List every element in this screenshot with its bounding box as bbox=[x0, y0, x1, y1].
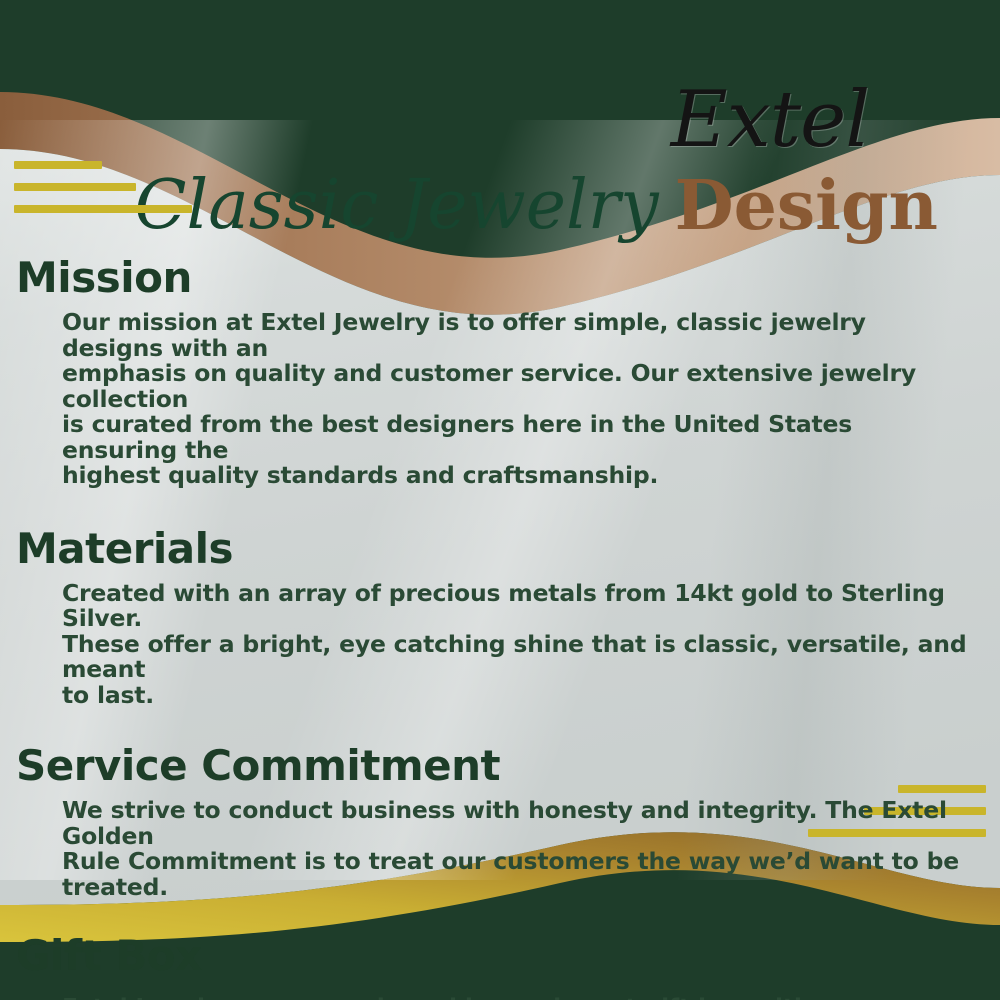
section-line: to last. bbox=[62, 683, 970, 709]
sections-container: Mission Our mission at Extel Jewelry is … bbox=[0, 252, 1000, 1000]
page-title-bold: Design bbox=[675, 168, 938, 244]
section-line: Created with an array of precious metals… bbox=[62, 581, 970, 632]
poster-canvas: Extel Classic Jewelry Design Mission Our… bbox=[0, 0, 1000, 1000]
brand-logo: Extel bbox=[600, 78, 940, 163]
section-title-gift-box: Gift Box bbox=[16, 930, 1000, 982]
section-body-gift-box: Extel Jewelry comes packaged in an elega… bbox=[62, 992, 970, 1000]
section-line: highest quality standards and craftsmans… bbox=[62, 463, 970, 489]
section-service-commitment: Service Commitment We strive to conduct … bbox=[0, 740, 1000, 900]
section-body-service-commitment: We strive to conduct business with hones… bbox=[62, 798, 970, 900]
brand-name: Extel bbox=[600, 78, 940, 163]
decorative-line bbox=[14, 183, 136, 191]
section-line: Rule Commitment is to treat our customer… bbox=[62, 849, 970, 875]
decorative-line bbox=[14, 161, 102, 169]
section-materials: Materials Created with an array of preci… bbox=[0, 523, 1000, 709]
section-title-materials: Materials bbox=[16, 523, 1000, 575]
section-line: We strive to conduct business with hones… bbox=[62, 798, 970, 849]
section-line: is curated from the best designers here … bbox=[62, 412, 970, 463]
section-line: emphasis on quality and customer service… bbox=[62, 361, 970, 412]
section-line: Extel Jewelry comes packaged in an elega… bbox=[62, 992, 970, 1000]
page-title-italic: Classic Jewelry bbox=[134, 168, 658, 244]
section-gift-box: Gift Box Extel Jewelry comes packaged in… bbox=[0, 930, 1000, 1000]
section-line: treated. bbox=[62, 875, 970, 901]
section-line: Our mission at Extel Jewelry is to offer… bbox=[62, 310, 970, 361]
section-line: These offer a bright, eye catching shine… bbox=[62, 632, 970, 683]
section-title-service-commitment: Service Commitment bbox=[16, 740, 1000, 792]
section-body-mission: Our mission at Extel Jewelry is to offer… bbox=[62, 310, 970, 489]
decorative-line bbox=[14, 205, 192, 213]
section-title-mission: Mission bbox=[16, 252, 1000, 304]
section-mission: Mission Our mission at Extel Jewelry is … bbox=[0, 252, 1000, 489]
section-body-materials: Created with an array of precious metals… bbox=[62, 581, 970, 709]
decorative-lines-top-left bbox=[14, 161, 192, 227]
